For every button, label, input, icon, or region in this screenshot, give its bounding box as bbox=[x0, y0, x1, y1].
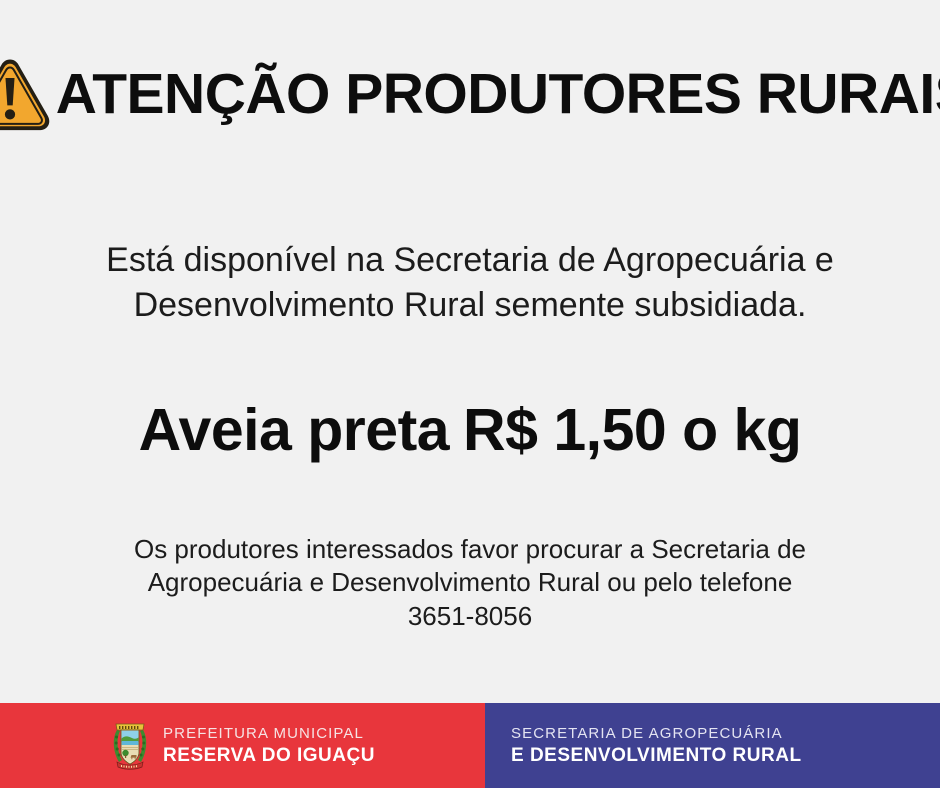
contact-line-2: Agropecuária e Desenvolvimento Rural ou … bbox=[80, 566, 860, 599]
poster-canvas: ATENÇÃO PRODUTORES RURAIS Está disponíve… bbox=[0, 0, 940, 788]
footer-secretaria-block: SECRETARIA DE AGROPECUÁRIA E DESENVOLVIM… bbox=[485, 703, 940, 788]
price-value: R$ 1,50 o kg bbox=[463, 397, 801, 463]
secretaria-line-2: E DESENVOLVIMENTO RURAL bbox=[511, 744, 802, 768]
footer-prefeitura-block: PREFEITURA MUNICIPAL RESERVA DO IGUAÇU bbox=[0, 703, 485, 788]
price-product: Aveia preta bbox=[139, 397, 449, 463]
prefeitura-text-block: PREFEITURA MUNICIPAL RESERVA DO IGUAÇU bbox=[163, 724, 375, 768]
contact-paragraph: Os produtores interessados favor procura… bbox=[80, 533, 860, 633]
contact-line-1: Os produtores interessados favor procura… bbox=[80, 533, 860, 566]
header: ATENÇÃO PRODUTORES RURAIS bbox=[0, 52, 940, 136]
page-title: ATENÇÃO PRODUTORES RURAIS bbox=[56, 66, 940, 123]
secretaria-line-1: SECRETARIA DE AGROPECUÁRIA bbox=[511, 724, 802, 744]
intro-line-2: Desenvolvimento Rural semente subsidiada… bbox=[60, 283, 880, 328]
secretaria-text-block: SECRETARIA DE AGROPECUÁRIA E DESENVOLVIM… bbox=[511, 724, 802, 768]
prefeitura-line-1: PREFEITURA MUNICIPAL bbox=[163, 724, 375, 744]
prefeitura-line-2: RESERVA DO IGUAÇU bbox=[163, 744, 375, 768]
intro-paragraph: Está disponível na Secretaria de Agropec… bbox=[60, 238, 880, 328]
price-headline: Aveia pretaR$ 1,50 o kg bbox=[0, 400, 940, 462]
footer-bar: PREFEITURA MUNICIPAL RESERVA DO IGUAÇU S… bbox=[0, 703, 940, 788]
coat-of-arms-icon bbox=[110, 722, 150, 770]
contact-phone: 3651-8056 bbox=[80, 600, 860, 633]
intro-line-1: Está disponível na Secretaria de Agropec… bbox=[60, 238, 880, 283]
warning-triangle-icon bbox=[0, 52, 52, 136]
